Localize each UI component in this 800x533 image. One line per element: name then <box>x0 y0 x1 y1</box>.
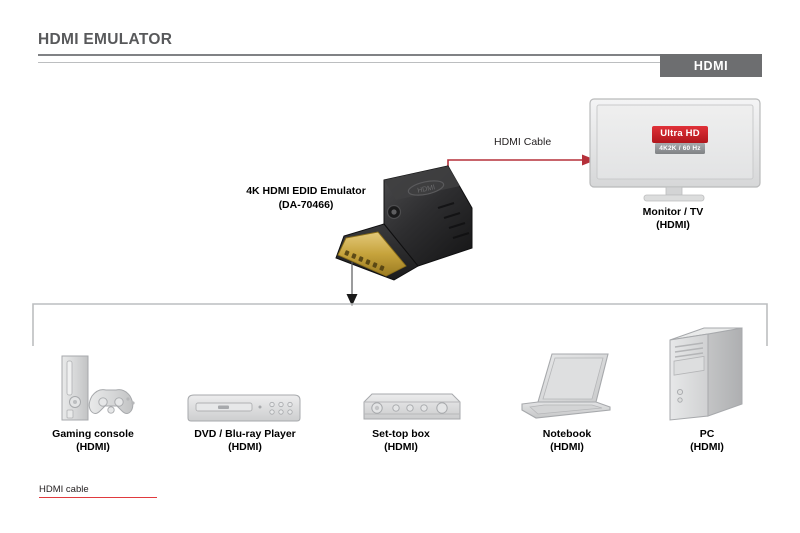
notebook-icon <box>512 352 622 424</box>
legend-hdmi-cable-line <box>39 497 157 498</box>
monitor-caption: Monitor / TV (HDMI) <box>608 206 738 232</box>
gaming-console-icon <box>50 352 142 424</box>
source-interface-notebook: (HDMI) <box>508 441 626 454</box>
source-interface-dvd-player: (HDMI) <box>178 441 312 454</box>
source-label-set-top-box: Set-top box <box>372 428 430 440</box>
source-interface-pc: (HDMI) <box>648 441 766 454</box>
ultra-hd-label: Ultra HD <box>652 128 708 139</box>
source-interface-gaming-console: (HDMI) <box>32 441 154 454</box>
emulator-caption: 4K HDMI EDID Emulator (DA-70466) <box>231 184 381 212</box>
source-caption-pc: PC (HDMI) <box>648 428 766 454</box>
dvd-player-icon <box>182 392 306 424</box>
hdmi-cable-label: HDMI Cable <box>494 136 551 148</box>
source-label-notebook: Notebook <box>543 428 591 440</box>
set-top-box-icon <box>360 390 464 424</box>
badge-connector-line <box>38 62 762 63</box>
source-caption-gaming-console: Gaming console (HDMI) <box>32 428 154 454</box>
source-caption-notebook: Notebook (HDMI) <box>508 428 626 454</box>
source-label-dvd-player: DVD / Blu-ray Player <box>194 428 296 440</box>
source-interface-set-top-box: (HDMI) <box>338 441 464 454</box>
hdmi-badge: HDMI <box>660 54 762 77</box>
legend-hdmi-cable-label: HDMI cable <box>39 484 89 495</box>
emulator-caption-model: (DA-70466) <box>279 199 334 211</box>
resolution-label: 4K2K / 60 Hz <box>652 145 708 152</box>
page-title: HDMI EMULATOR <box>38 31 172 49</box>
source-caption-set-top-box: Set-top box (HDMI) <box>338 428 464 454</box>
source-label-pc: PC <box>700 428 715 440</box>
monitor-caption-label: Monitor / TV <box>643 206 704 218</box>
monitor-caption-interface: (HDMI) <box>608 219 738 232</box>
emulator-caption-name: 4K HDMI EDID Emulator <box>246 185 366 197</box>
pc-tower-icon <box>656 326 756 424</box>
source-caption-dvd-player: DVD / Blu-ray Player (HDMI) <box>178 428 312 454</box>
source-label-gaming-console: Gaming console <box>52 428 134 440</box>
title-divider <box>38 54 762 56</box>
